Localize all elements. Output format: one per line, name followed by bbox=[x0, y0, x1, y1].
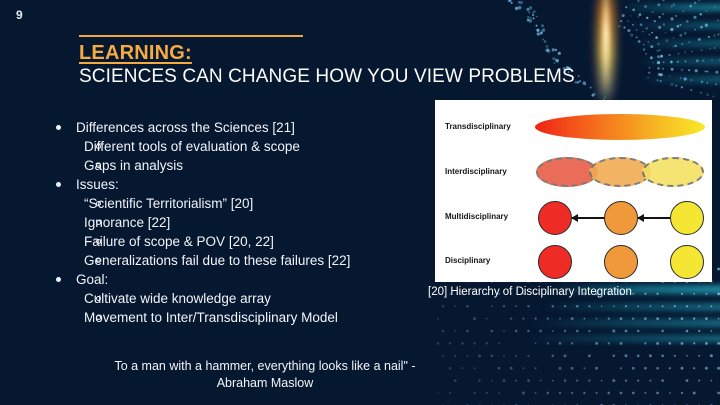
list-item-label: Movement to Inter/Transdisciplinary Mode… bbox=[84, 308, 444, 327]
bullet-hollow-icon bbox=[96, 315, 101, 320]
list-item: Goal: bbox=[44, 270, 444, 289]
page-title: SCIENCES CAN CHANGE HOW YOU VIEW PROBLEM… bbox=[79, 66, 719, 88]
figure-row-disciplinary: Disciplinary bbox=[435, 242, 712, 282]
bullet-filled-icon bbox=[56, 182, 61, 187]
figure-row-multidisciplinary: Multidisciplinary bbox=[435, 198, 712, 238]
figure-row-transdisciplinary: Transdisciplinary bbox=[435, 110, 712, 146]
light-streak-glow bbox=[598, 0, 614, 110]
list-item: Cultivate wide knowledge array bbox=[44, 289, 444, 308]
list-item: Differences across the Sciences [21] bbox=[44, 118, 444, 137]
figure-row-label: Transdisciplinary bbox=[445, 122, 511, 131]
title-divider-rule bbox=[79, 35, 303, 37]
list-item: Gaps in analysis bbox=[44, 156, 444, 175]
list-item: Issues: bbox=[44, 175, 444, 194]
teal-streak bbox=[620, 4, 720, 11]
figure-row-label: Interdisciplinary bbox=[445, 167, 507, 176]
list-item-label: Different tools of evaluation & scope bbox=[84, 137, 444, 156]
figure-row-label: Disciplinary bbox=[445, 256, 490, 265]
list-item: Movement to Inter/Transdisciplinary Mode… bbox=[44, 308, 444, 327]
bullet-list: Differences across the Sciences [21] Dif… bbox=[44, 118, 444, 327]
circle-orange bbox=[604, 245, 638, 279]
circle-red bbox=[538, 201, 572, 235]
circle-orange bbox=[604, 201, 638, 235]
teal-streak bbox=[635, 58, 720, 65]
list-item: Generalizations fail due to these failur… bbox=[44, 251, 444, 270]
list-item-label: Failure of scope & POV [20, 22] bbox=[84, 232, 444, 251]
bullet-filled-icon bbox=[56, 277, 61, 282]
quote-attribution: Abraham Maslow bbox=[40, 375, 490, 392]
title-eyebrow: LEARNING: bbox=[79, 42, 192, 65]
list-item: Different tools of evaluation & scope bbox=[44, 137, 444, 156]
teal-streak bbox=[625, 22, 720, 29]
bullet-hollow-icon bbox=[96, 201, 101, 206]
bullet-hollow-icon bbox=[96, 258, 101, 263]
list-item-label: Cultivate wide knowledge array bbox=[84, 289, 444, 308]
dashed-ellipse-yellow bbox=[642, 157, 704, 187]
figure-hierarchy-diagram: Transdisciplinary Interdisciplinary Mult… bbox=[435, 100, 712, 282]
list-item-label: Issues: bbox=[76, 175, 444, 194]
figure-caption: [20] Hierarchy of Disciplinary Integrati… bbox=[428, 286, 718, 298]
figure-row-interdisciplinary: Interdisciplinary bbox=[435, 154, 712, 192]
list-item: “Scientific Territorialism” [20] bbox=[44, 194, 444, 213]
bullet-hollow-icon bbox=[96, 239, 101, 244]
teal-streak bbox=[530, 319, 720, 327]
bullet-filled-icon bbox=[56, 125, 61, 130]
list-item: Failure of scope & POV [20, 22] bbox=[44, 232, 444, 251]
circle-yellow bbox=[670, 201, 704, 235]
gradient-ellipse-shape bbox=[535, 114, 705, 140]
page-number: 9 bbox=[16, 8, 23, 22]
bullet-hollow-icon bbox=[96, 296, 101, 301]
quote-block: To a man with a hammer, everything looks… bbox=[40, 358, 490, 392]
list-item-label: Goal: bbox=[76, 270, 444, 289]
teal-streak bbox=[540, 303, 720, 311]
list-item-label: Differences across the Sciences [21] bbox=[76, 118, 444, 137]
slide-canvas: 9 LEARNING: SCIENCES CAN CHANGE HOW YOU … bbox=[0, 0, 720, 405]
list-item-label: Generalizations fail due to these failur… bbox=[84, 251, 444, 270]
figure-row-label: Multidisciplinary bbox=[445, 212, 508, 221]
teal-streak bbox=[525, 335, 720, 342]
list-item-label: Ignorance [22] bbox=[84, 213, 444, 232]
bullet-hollow-icon bbox=[96, 220, 101, 225]
list-item-label: Gaps in analysis bbox=[84, 156, 444, 175]
list-item-label: “Scientific Territorialism” [20] bbox=[84, 194, 444, 213]
quote-line-1: To a man with a hammer, everything looks… bbox=[40, 358, 490, 375]
circle-yellow bbox=[670, 245, 704, 279]
bullet-hollow-icon bbox=[96, 163, 101, 168]
bullet-hollow-icon bbox=[96, 144, 101, 149]
circle-red bbox=[538, 245, 572, 279]
list-item: Ignorance [22] bbox=[44, 213, 444, 232]
teal-streak bbox=[630, 40, 720, 47]
